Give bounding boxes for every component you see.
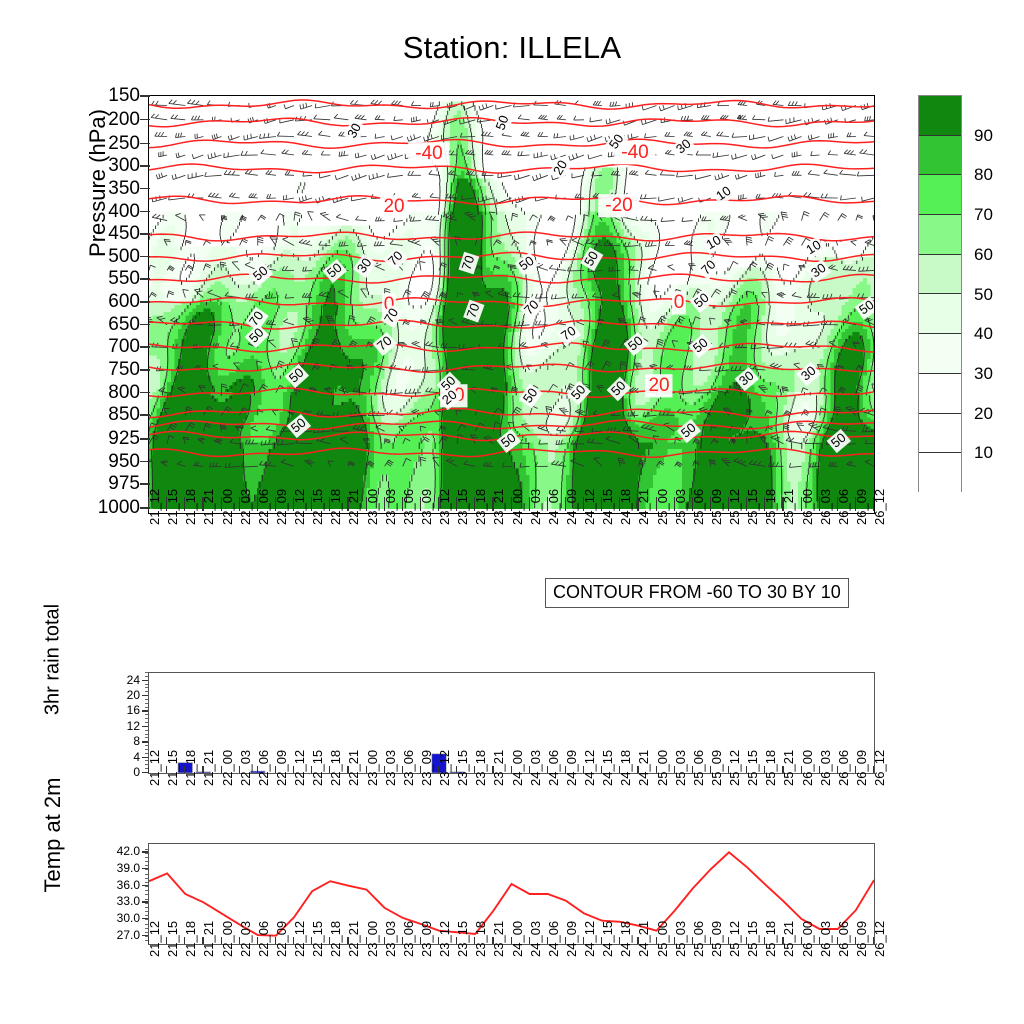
main-ytick-mark: [140, 369, 150, 371]
rain-ytick: 20: [100, 689, 140, 701]
xtick-mark: [583, 497, 584, 511]
main-ytick-mark: [140, 438, 150, 440]
xtick-mark: [438, 766, 439, 773]
xtick-mark: [202, 937, 203, 944]
main-ytick: 850: [70, 405, 140, 424]
xtick-label: 25_21: [782, 770, 795, 786]
xtick-label: 24_00: [511, 770, 524, 786]
colorbar-label: 70: [974, 206, 993, 223]
xtick-label: 23_00: [366, 509, 379, 525]
xtick-label: 23_09: [420, 941, 433, 957]
xtick-mark: [583, 766, 584, 773]
xtick-mark: [746, 497, 747, 511]
xtick-label: 23_00: [366, 770, 379, 786]
xtick-label: 25_00: [656, 509, 669, 525]
xtick-label: 22_12: [293, 509, 306, 525]
xtick-label: 22_06: [257, 509, 270, 525]
xtick-mark: [166, 497, 167, 511]
xtick-label: 25_15: [746, 770, 759, 786]
xtick-label: 25_09: [710, 509, 723, 525]
xtick-mark: [601, 497, 602, 511]
xtick-mark: [819, 497, 820, 511]
xtick-label: 23_12: [438, 941, 451, 957]
xtick-mark: [166, 766, 167, 773]
xtick-label: 21_21: [202, 770, 215, 786]
xtick-mark: [402, 497, 403, 511]
main-ytick: 750: [70, 360, 140, 379]
main-ytick-mark: [140, 211, 150, 213]
xtick-label: 23_03: [384, 509, 397, 525]
xtick-label: 21_18: [184, 509, 197, 525]
humidity-colorbar[interactable]: [918, 95, 962, 492]
xtick-label: 22_18: [329, 770, 342, 786]
xtick-mark: [656, 766, 657, 773]
main-ytick: 500: [70, 247, 140, 266]
colorbar-cell: [919, 374, 961, 414]
xtick-mark: [366, 497, 367, 511]
main-ytick: 650: [70, 315, 140, 334]
xtick-mark: [293, 937, 294, 944]
rain-panel-ylabel: 3hr rain total: [42, 585, 65, 735]
colorbar-label: 50: [974, 286, 993, 303]
xtick-mark: [221, 497, 222, 511]
main-ytick-mark: [140, 301, 150, 303]
xtick-label: 25_06: [692, 770, 705, 786]
xtick-label: 25_06: [692, 509, 705, 525]
xtick-label: 21_12: [148, 770, 161, 786]
xtick-label: 24_18: [619, 770, 632, 786]
xtick-label: 22_15: [311, 509, 324, 525]
xtick-label: 25_21: [782, 509, 795, 525]
xtick-label: 26_09: [855, 941, 868, 957]
xtick-mark: [511, 766, 512, 773]
xtick-label: 23_09: [420, 770, 433, 786]
main-ytick-mark: [140, 483, 150, 485]
xtick-label: 22_15: [311, 941, 324, 957]
colorbar-cell: [919, 255, 961, 295]
main-ytick-mark: [140, 119, 150, 121]
xtick-label: 25_18: [764, 509, 777, 525]
xtick-mark: [529, 937, 530, 944]
xtick-mark: [366, 937, 367, 944]
xtick-mark: [202, 766, 203, 773]
xtick-mark: [474, 937, 475, 944]
xtick-label: 26_03: [819, 770, 832, 786]
xtick-label: 23_18: [474, 509, 487, 525]
xtick-label: 23_09: [420, 509, 433, 525]
colorbar-cell: [919, 96, 961, 136]
main-ytick: 800: [70, 383, 140, 402]
xtick-label: 22_09: [275, 941, 288, 957]
xtick-label: 25_15: [746, 509, 759, 525]
xtick-mark: [692, 766, 693, 773]
xtick-mark: [837, 497, 838, 511]
xtick-label: 23_06: [402, 941, 415, 957]
xtick-mark: [674, 937, 675, 944]
xtick-mark: [837, 766, 838, 773]
xtick-mark: [347, 937, 348, 944]
xtick-mark: [184, 766, 185, 773]
main-ytick-mark: [140, 278, 150, 280]
xtick-mark: [873, 937, 874, 944]
colorbar-cell: [919, 414, 961, 454]
xtick-label: 24_15: [601, 770, 614, 786]
main-ytick-mark: [140, 188, 150, 190]
xtick-label: 25_00: [656, 770, 669, 786]
xtick-mark: [184, 937, 185, 944]
xtick-mark: [656, 497, 657, 511]
xtick-mark: [474, 766, 475, 773]
main-ytick: 350: [70, 179, 140, 198]
xtick-mark: [801, 497, 802, 511]
xtick-mark: [347, 497, 348, 511]
xtick-mark: [746, 766, 747, 773]
xtick-mark: [547, 937, 548, 944]
colorbar-cell: [919, 294, 961, 334]
xtick-mark: [257, 497, 258, 511]
xtick-mark: [293, 766, 294, 773]
xtick-mark: [710, 497, 711, 511]
xtick-label: 26_09: [855, 509, 868, 525]
xtick-mark: [438, 937, 439, 944]
xtick-mark: [311, 937, 312, 944]
xtick-mark: [656, 937, 657, 944]
colorbar-label: 80: [974, 166, 993, 183]
xtick-mark: [329, 937, 330, 944]
xtick-mark: [492, 497, 493, 511]
xtick-mark: [239, 766, 240, 773]
xtick-mark: [366, 766, 367, 773]
xtick-mark: [384, 766, 385, 773]
humidity-cross-section-plot[interactable]: -40-4020-2000202030505030201010103050707…: [148, 95, 875, 514]
xtick-label: 23_18: [474, 941, 487, 957]
xtick-label: 22_12: [293, 770, 306, 786]
xtick-label: 24_06: [547, 941, 560, 957]
xtick-mark: [855, 766, 856, 773]
xtick-label: 22_03: [239, 770, 252, 786]
xtick-mark: [674, 766, 675, 773]
xtick-mark: [402, 937, 403, 944]
rain-ytick: 16: [100, 704, 140, 716]
main-ytick-mark: [140, 461, 150, 463]
xtick-label: 24_21: [637, 941, 650, 957]
xtick-label: 23_21: [492, 941, 505, 957]
xtick-mark: [819, 766, 820, 773]
xtick-mark: [257, 766, 258, 773]
colorbar-label: 90: [974, 127, 993, 144]
xtick-label: 25_12: [728, 941, 741, 957]
xtick-mark: [347, 766, 348, 773]
xtick-label: 23_21: [492, 770, 505, 786]
xtick-label: 24_12: [583, 509, 596, 525]
xtick-label: 22_03: [239, 509, 252, 525]
xtick-label: 22_18: [329, 509, 342, 525]
main-ytick: 950: [70, 452, 140, 471]
xtick-label: 24_15: [601, 509, 614, 525]
xtick-mark: [166, 937, 167, 944]
xtick-mark: [728, 497, 729, 511]
xtick-mark: [311, 766, 312, 773]
xtick-label: 26_12: [873, 941, 886, 957]
xtick-label: 24_09: [565, 509, 578, 525]
xtick-mark: [619, 766, 620, 773]
xtick-label: 26_00: [801, 941, 814, 957]
main-ytick: 400: [70, 202, 140, 221]
xtick-label: 21_12: [148, 941, 161, 957]
xtick-label: 22_00: [221, 770, 234, 786]
colorbar-cell: [919, 175, 961, 215]
xtick-label: 22_12: [293, 941, 306, 957]
xtick-label: 25_03: [674, 941, 687, 957]
xtick-mark: [728, 937, 729, 944]
page-title: Station: ILLELA: [0, 30, 1024, 66]
xtick-mark: [619, 497, 620, 511]
main-ytick-mark: [140, 165, 150, 167]
xtick-label: 23_03: [384, 941, 397, 957]
xtick-label: 25_21: [782, 941, 795, 957]
xtick-mark: [221, 937, 222, 944]
xtick-mark: [202, 497, 203, 511]
xtick-mark: [402, 766, 403, 773]
main-ytick: 975: [70, 474, 140, 493]
main-ytick: 200: [70, 110, 140, 129]
xtick-label: 21_18: [184, 770, 197, 786]
xtick-mark: [456, 937, 457, 944]
xtick-label: 21_21: [202, 509, 215, 525]
xtick-mark: [764, 937, 765, 944]
xtick-label: 26_03: [819, 941, 832, 957]
main-ytick: 600: [70, 292, 140, 311]
xtick-label: 24_03: [529, 770, 542, 786]
main-ytick-mark: [140, 392, 150, 394]
main-ytick-mark: [140, 143, 150, 145]
xtick-label: 22_21: [347, 941, 360, 957]
rain-ytick: 24: [100, 674, 140, 686]
contour-note: CONTOUR FROM -60 TO 30 BY 10: [545, 578, 849, 608]
xtick-label: 24_21: [637, 509, 650, 525]
xtick-mark: [474, 497, 475, 511]
xtick-label: 23_18: [474, 770, 487, 786]
xtick-mark: [511, 937, 512, 944]
xtick-label: 25_15: [746, 941, 759, 957]
xtick-label: 22_06: [257, 941, 270, 957]
xtick-label: 24_06: [547, 770, 560, 786]
xtick-label: 24_03: [529, 941, 542, 957]
xtick-mark: [384, 497, 385, 511]
temp-panel-ylabel: Temp at 2m: [40, 750, 66, 920]
xtick-mark: [456, 766, 457, 773]
xtick-label: 21_15: [166, 770, 179, 786]
xtick-label: 24_06: [547, 509, 560, 525]
xtick-label: 23_06: [402, 509, 415, 525]
xtick-label: 24_12: [583, 770, 596, 786]
xtick-label: 26_06: [837, 509, 850, 525]
xtick-label: 21_21: [202, 941, 215, 957]
rain-ytick: 4: [100, 751, 140, 763]
xtick-mark: [239, 497, 240, 511]
main-ytick-mark: [140, 95, 150, 97]
xtick-label: 24_09: [565, 770, 578, 786]
xtick-mark: [782, 497, 783, 511]
xtick-label: 22_21: [347, 509, 360, 525]
main-ytick: 450: [70, 224, 140, 243]
xtick-mark: [492, 937, 493, 944]
colorbar-label: 20: [974, 405, 993, 422]
xtick-label: 23_15: [456, 770, 469, 786]
xtick-label: 26_03: [819, 509, 832, 525]
xtick-label: 24_09: [565, 941, 578, 957]
main-ytick-mark: [140, 324, 150, 326]
xtick-mark: [384, 937, 385, 944]
xtick-mark: [637, 937, 638, 944]
xtick-label: 21_18: [184, 941, 197, 957]
xtick-mark: [420, 766, 421, 773]
xtick-label: 25_12: [728, 509, 741, 525]
temp-ytick: 33.0: [92, 895, 140, 907]
xtick-label: 22_00: [221, 941, 234, 957]
main-ytick-mark: [140, 507, 150, 509]
xtick-label: 26_06: [837, 941, 850, 957]
xtick-mark: [438, 497, 439, 511]
xtick-label: 22_21: [347, 770, 360, 786]
xtick-label: 24_18: [619, 509, 632, 525]
xtick-mark: [782, 766, 783, 773]
xtick-label: 22_15: [311, 770, 324, 786]
xtick-mark: [293, 497, 294, 511]
main-ytick: 550: [70, 269, 140, 288]
xtick-mark: [583, 937, 584, 944]
main-ytick-mark: [140, 256, 150, 258]
xtick-label: 24_12: [583, 941, 596, 957]
xtick-mark: [529, 766, 530, 773]
xtick-mark: [746, 937, 747, 944]
colorbar-cell: [919, 136, 961, 176]
xtick-mark: [420, 937, 421, 944]
xtick-mark: [873, 497, 874, 511]
xtick-mark: [819, 937, 820, 944]
xtick-mark: [547, 497, 548, 511]
xtick-label: 22_00: [221, 509, 234, 525]
rain-ytick: 0: [100, 766, 140, 778]
xtick-label: 26_12: [873, 770, 886, 786]
main-ytick: 925: [70, 429, 140, 448]
xtick-mark: [764, 766, 765, 773]
xtick-mark: [837, 937, 838, 944]
temp-ytick: 30.0: [92, 912, 140, 924]
xtick-label: 26_00: [801, 770, 814, 786]
xtick-label: 22_03: [239, 941, 252, 957]
xtick-mark: [565, 497, 566, 511]
xtick-label: 26_12: [873, 509, 886, 525]
xtick-label: 21_15: [166, 509, 179, 525]
xtick-mark: [601, 766, 602, 773]
xtick-mark: [710, 937, 711, 944]
temp-ytick: 42.0: [92, 845, 140, 857]
rain-ytick: 12: [100, 720, 140, 732]
main-ytick: 300: [70, 156, 140, 175]
xtick-label: 25_18: [764, 941, 777, 957]
xtick-label: 24_21: [637, 770, 650, 786]
xtick-mark: [275, 937, 276, 944]
xtick-label: 21_12: [148, 509, 161, 525]
xtick-mark: [855, 937, 856, 944]
xtick-label: 22_06: [257, 770, 270, 786]
xtick-mark: [692, 937, 693, 944]
xtick-label: 25_00: [656, 941, 669, 957]
xtick-mark: [275, 766, 276, 773]
xtick-mark: [329, 766, 330, 773]
colorbar-cell: [919, 334, 961, 374]
xtick-label: 23_06: [402, 770, 415, 786]
xtick-label: 23_15: [456, 509, 469, 525]
xtick-mark: [565, 937, 566, 944]
xtick-mark: [873, 766, 874, 773]
xtick-mark: [601, 937, 602, 944]
xtick-label: 26_00: [801, 509, 814, 525]
xtick-mark: [529, 497, 530, 511]
humidity-cross-section-svg: -40-4020-2000202030505030201010103050707…: [149, 96, 874, 513]
xtick-label: 25_09: [710, 770, 723, 786]
xtick-label: 21_15: [166, 941, 179, 957]
xtick-label: 24_15: [601, 941, 614, 957]
xtick-mark: [710, 766, 711, 773]
xtick-mark: [221, 766, 222, 773]
xtick-mark: [148, 766, 149, 773]
xtick-label: 26_06: [837, 770, 850, 786]
colorbar-label: 30: [974, 365, 993, 382]
xtick-mark: [311, 497, 312, 511]
xtick-mark: [764, 497, 765, 511]
xtick-mark: [619, 937, 620, 944]
xtick-mark: [275, 497, 276, 511]
xtick-mark: [239, 937, 240, 944]
xtick-mark: [184, 497, 185, 511]
temp-ytick: 27.0: [92, 929, 140, 941]
xtick-label: 25_12: [728, 770, 741, 786]
xtick-mark: [782, 937, 783, 944]
main-ytick: 250: [70, 134, 140, 153]
xtick-mark: [456, 497, 457, 511]
xtick-mark: [148, 937, 149, 944]
xtick-label: 24_18: [619, 941, 632, 957]
xtick-mark: [855, 497, 856, 511]
xtick-mark: [692, 497, 693, 511]
colorbar-cell: [919, 215, 961, 255]
main-ytick: 700: [70, 337, 140, 356]
xtick-label: 24_00: [511, 509, 524, 525]
xtick-mark: [637, 497, 638, 511]
xtick-label: 22_18: [329, 941, 342, 957]
xtick-label: 23_00: [366, 941, 379, 957]
main-ytick: 1000: [70, 498, 140, 517]
xtick-mark: [674, 497, 675, 511]
xtick-label: 24_00: [511, 941, 524, 957]
xtick-mark: [547, 766, 548, 773]
xtick-mark: [728, 766, 729, 773]
main-ytick-mark: [140, 233, 150, 235]
rain-ytick: 8: [100, 735, 140, 747]
temp-ytick: 39.0: [92, 862, 140, 874]
xtick-mark: [420, 497, 421, 511]
colorbar-cell: [919, 453, 961, 493]
xtick-label: 26_09: [855, 770, 868, 786]
xtick-label: 25_03: [674, 770, 687, 786]
colorbar-label: 10: [974, 444, 993, 461]
xtick-mark: [492, 766, 493, 773]
xtick-label: 25_09: [710, 941, 723, 957]
xtick-label: 25_03: [674, 509, 687, 525]
temp-ytick: 36.0: [92, 879, 140, 891]
